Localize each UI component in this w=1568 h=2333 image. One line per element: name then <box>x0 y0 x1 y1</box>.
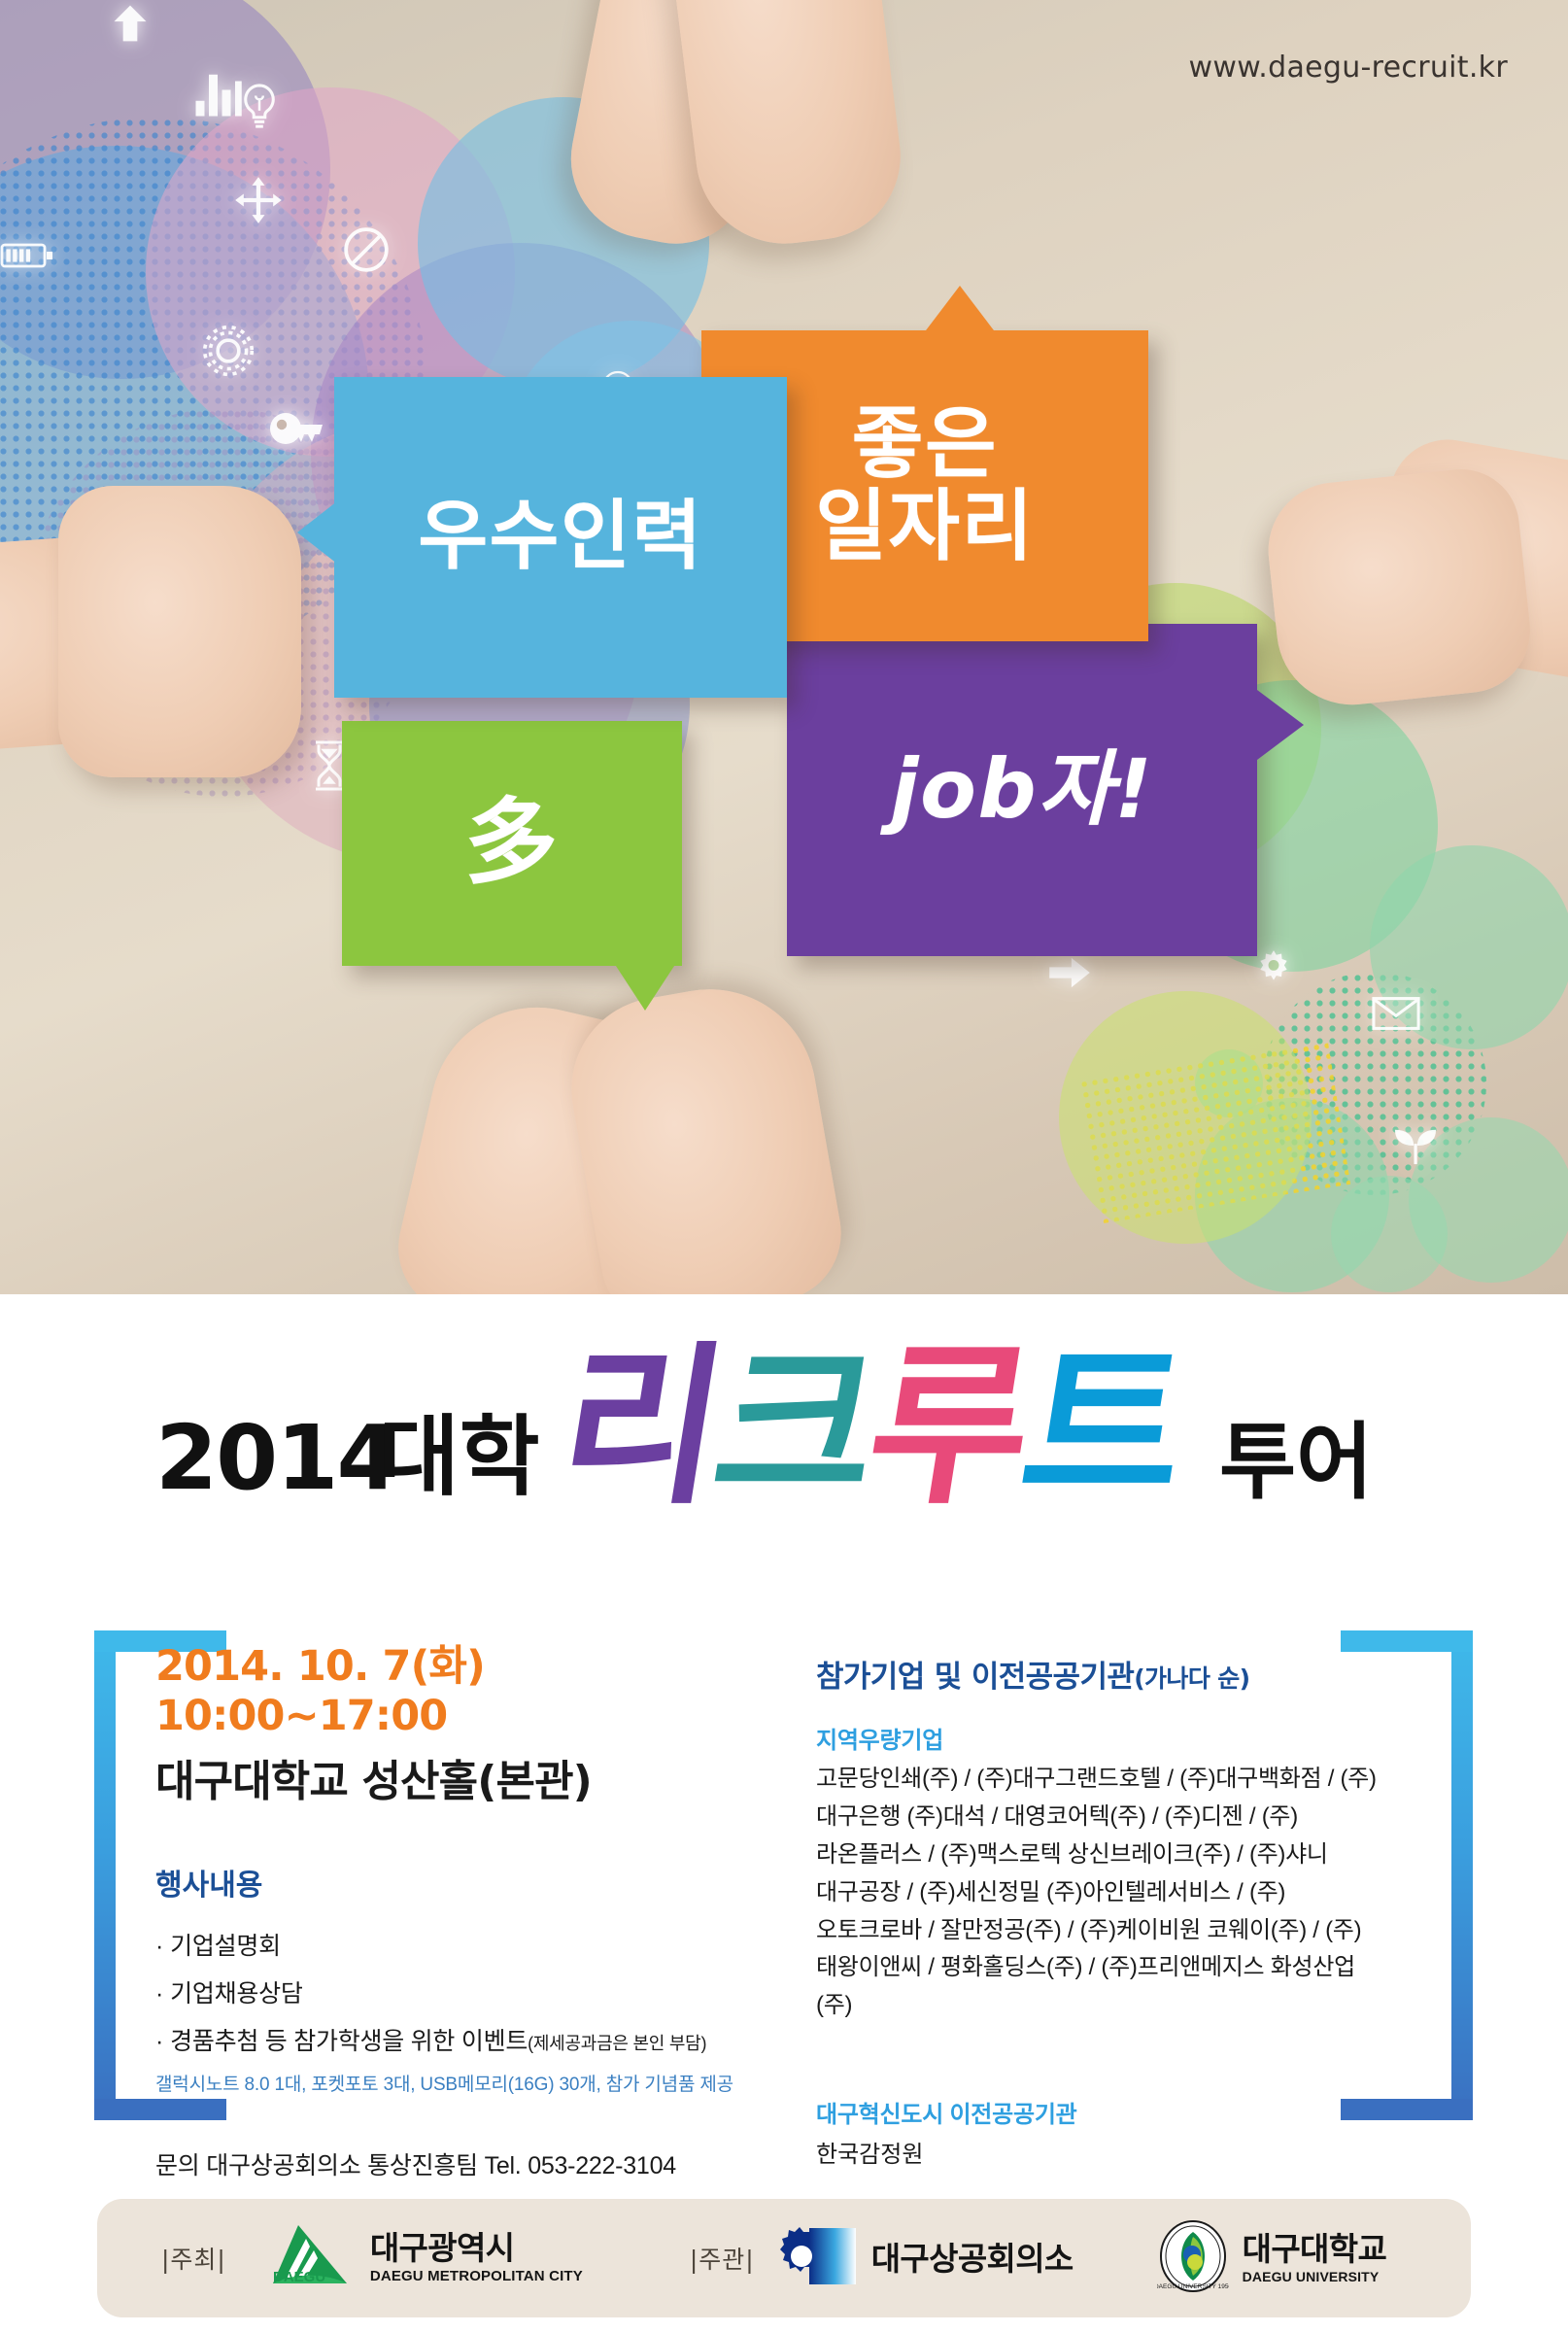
daegu-university-name-en: DAEGU UNIVERSITY <box>1243 2269 1387 2284</box>
title-recruit-char-1: 리 <box>552 1353 730 1501</box>
dcci-logo-icon <box>780 2220 858 2297</box>
sprout-icon <box>1387 1125 1444 1166</box>
bubble-excellent-talent: 우수인력 <box>334 377 787 698</box>
gift-note: 갤럭시노트 8.0 1대, 포켓포토 3대, USB메모리(16G) 30개, … <box>155 2070 758 2096</box>
gear-icon <box>198 321 258 381</box>
daegu-university-logo-icon: DAEGU UNIVERSITY 1956 <box>1157 2219 1229 2298</box>
bullet-dot-icon: · <box>155 2018 163 2066</box>
hand-right-fingers <box>1262 463 1537 712</box>
svg-text:DAEGU UNIVERSITY 1956: DAEGU UNIVERSITY 1956 <box>1157 2283 1229 2290</box>
daegu-city-wordmark: 대구광역시 DAEGU METROPOLITAN CITY <box>370 2232 583 2284</box>
bg-wash-lime <box>1059 991 1312 1244</box>
footer-sponsors: |주최| DAEGU 대구광역시 DAEGU METROPOLITAN CITY… <box>97 2199 1471 2317</box>
move-arrows-icon <box>233 175 284 225</box>
daegu-city-logo-icon: DAEGU <box>254 2221 357 2296</box>
bracket-left-vertical <box>94 1630 116 2120</box>
title-year: 2014 <box>155 1414 397 1503</box>
bracket-right-top <box>1341 1630 1473 1652</box>
program-item-label: 기업설명회 <box>170 1933 281 1960</box>
arrow-up-icon <box>109 2 152 45</box>
lightbulb-icon-main <box>237 82 282 132</box>
bubble-jobja-tail <box>1257 690 1304 760</box>
title-recruit-char-2: 크 <box>705 1353 883 1501</box>
envelope-icon <box>1372 996 1420 1031</box>
list-item: ·기업설명회 <box>155 1923 758 1971</box>
local-companies-list: 고문당인쇄(주) / (주)대구그랜드호텔 / (주)대구백화점 / (주)대구… <box>816 1761 1380 2025</box>
bubble-good-jobs-tail <box>923 286 997 334</box>
daegu-city-name-ko: 대구광역시 <box>370 2232 583 2264</box>
title-recruit-char-4: 트 <box>1013 1353 1191 1501</box>
bubble-jobja: job자! <box>787 624 1257 956</box>
title-university: 대학 <box>379 1414 540 1501</box>
svg-text:DAEGU: DAEGU <box>273 2269 325 2285</box>
bullet-dot-icon: · <box>155 1971 163 2018</box>
hero-image: 多 job자! 좋은 일자리 우수인력 www.daegu-recruit.kr <box>0 0 1568 1294</box>
bg-wash-green7 <box>1331 1176 1448 1292</box>
play-arrow-icon <box>1047 956 1092 989</box>
event-info-column: 2014. 10. 7(화) 10:00~17:00 대구대학교 성산홀(본관)… <box>155 1642 758 2181</box>
dcci-name-ko: 대구상공회의소 <box>871 2243 1074 2275</box>
public-institutions-heading: 대구혁신도시 이전공공기관 <box>816 2095 1380 2129</box>
participants-title: 참가기업 및 이전공공기관(가나다 순) <box>816 1652 1380 1696</box>
organizer-label: |주관| <box>690 2241 755 2276</box>
list-item: ·기업채용상담 <box>155 1971 758 2018</box>
bubble-excellent-talent-text: 우수인력 <box>418 498 702 576</box>
website-url[interactable]: www.daegu-recruit.kr <box>1189 51 1508 85</box>
program-item-label: 기업채용상담 <box>170 1980 303 2007</box>
bubble-jobja-text: job자! <box>891 748 1154 832</box>
spacer <box>816 2025 1380 2070</box>
key-icon <box>268 408 330 461</box>
host-group: |주최| DAEGU 대구광역시 DAEGU METROPOLITAN CITY <box>161 2221 583 2296</box>
organizer-group: |주관| 대구상공회의소 <box>690 2220 1074 2297</box>
daegu-university-group: DAEGU UNIVERSITY 1956 대구대학교 DAEGU UNIVER… <box>1157 2219 1387 2298</box>
poster-root: 多 job자! 좋은 일자리 우수인력 www.daegu-recruit.kr… <box>0 0 1568 2333</box>
bullet-dot-icon: · <box>155 1923 163 1971</box>
list-item: 한국감정원 <box>816 2135 1380 2169</box>
event-date: 2014. 10. 7(화) 10:00~17:00 <box>155 1642 758 1740</box>
program-heading: 행사내용 <box>155 1861 758 1904</box>
event-venue: 대구대학교 성산홀(본관) <box>155 1746 758 1808</box>
daegu-university-name-ko: 대구대학교 <box>1243 2233 1387 2265</box>
program-list: ·기업설명회 ·기업채용상담 ·경품추첨 등 참가학생을 위한 이벤트(제세공과… <box>155 1923 758 2095</box>
bracket-right-vertical <box>1451 1630 1473 2120</box>
program-item-note: (제세공과금은 본인 부담) <box>528 2034 706 2053</box>
hand-left-fist <box>58 486 301 777</box>
daegu-university-wordmark: 대구대학교 DAEGU UNIVERSITY <box>1243 2233 1387 2284</box>
no-entry-icon <box>342 225 391 274</box>
title-recruit-char-3: 루 <box>860 1353 1038 1501</box>
bubble-good-jobs-text: 좋은 일자리 <box>815 403 1035 568</box>
daegu-city-name-en: DAEGU METROPOLITAN CITY <box>370 2268 583 2284</box>
contact-info: 문의 대구상공회의소 통상진흥팀 Tel. 053-222-3104 <box>155 2146 758 2181</box>
title-tour: 투어 <box>1219 1421 1373 1504</box>
bubble-many-tail <box>612 960 678 1011</box>
participants-title-label: 참가기업 및 이전공공기관 <box>816 1660 1134 1695</box>
bubble-many: 多 <box>342 721 682 966</box>
bubble-many-text: 多 <box>464 796 560 891</box>
program-item-label: 경품추첨 등 참가학생을 위한 이벤트 <box>170 2028 528 2055</box>
local-companies-heading: 지역우량기업 <box>816 1721 1380 1755</box>
hand-bottom-right <box>557 973 852 1294</box>
title-recruit: 리 크 루 트 <box>552 1353 1191 1501</box>
bubble-excellent-talent-tail <box>297 497 342 567</box>
gear-small-icon <box>1253 947 1294 988</box>
host-label: |주최| <box>161 2241 226 2276</box>
list-item: ·경품추첨 등 참가학생을 위한 이벤트(제세공과금은 본인 부담) <box>155 2018 758 2066</box>
participants-title-note: (가나다 순) <box>1134 1664 1249 1693</box>
participants-column: 참가기업 및 이전공공기관(가나다 순) 지역우량기업 고문당인쇄(주) / (… <box>816 1652 1380 2169</box>
battery-icon <box>0 241 54 270</box>
